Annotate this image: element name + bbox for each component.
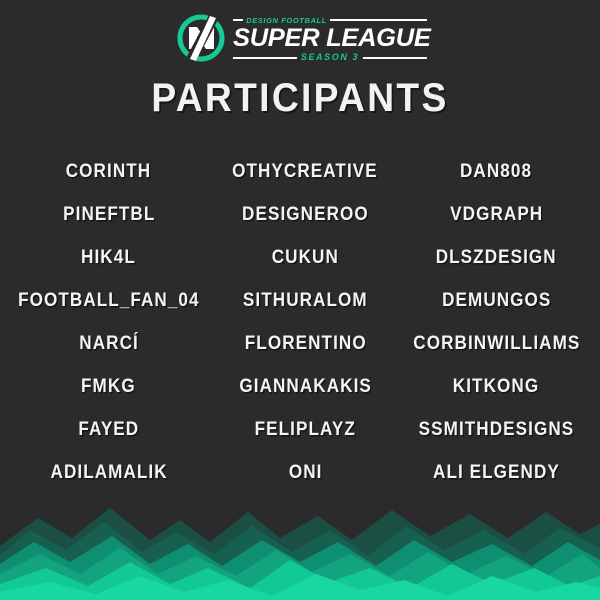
logo-season: SEASON 3 — [301, 53, 359, 62]
super-league-logo: DESIGN FOOTBALL SUPER LEAGUE SEASON 3 — [0, 10, 600, 68]
super-league-emblem-icon — [173, 11, 229, 67]
participant-name: ONI — [288, 451, 322, 494]
participant-name: ALI ELGENDY — [433, 451, 560, 494]
page-title: PARTICIPANTS — [21, 76, 579, 121]
mountain-range-graphic — [0, 490, 600, 600]
participants-grid: CORINTH PINEFTBL HIK4L FOOTBALL_FAN_04 N… — [8, 150, 592, 494]
participant-name: VDGRAPH — [450, 193, 543, 236]
participant-name: FMKG — [82, 365, 137, 408]
logo-rule-right — [330, 19, 428, 21]
participants-column-3: DAN808 VDGRAPH DLSZDESIGN DEMUNGOS CORBI… — [401, 150, 592, 494]
participants-poster: DESIGN FOOTBALL SUPER LEAGUE SEASON 3 PA… — [0, 0, 600, 600]
participant-name: OTHYCREATIVE — [232, 150, 378, 193]
participants-column-1: CORINTH PINEFTBL HIK4L FOOTBALL_FAN_04 N… — [8, 150, 210, 494]
participant-name: FAYED — [78, 408, 139, 451]
logo-wordmark: DESIGN FOOTBALL SUPER LEAGUE SEASON 3 — [233, 15, 427, 63]
logo-season-rule-left — [233, 57, 297, 59]
participant-name: ADILAMALIK — [50, 451, 167, 494]
participant-name: DEMUNGOS — [442, 279, 551, 322]
participant-name: KITKONG — [453, 365, 539, 408]
participant-name: FOOTBALL_FAN_04 — [18, 279, 200, 322]
participant-name: PINEFTBL — [63, 193, 155, 236]
participant-name: SSMITHDESIGNS — [419, 408, 575, 451]
participant-name: DAN808 — [460, 150, 532, 193]
logo-title: SUPER LEAGUE — [233, 25, 431, 51]
participant-name: DESIGNEROO — [242, 193, 369, 236]
logo-rule-left — [233, 19, 244, 21]
participants-column-2: OTHYCREATIVE DESIGNEROO CUKUN SITHURALOM… — [210, 150, 401, 494]
participant-name: DLSZDESIGN — [436, 236, 557, 279]
participant-name: CORINTH — [66, 150, 151, 193]
participant-name: FELIPLAYZ — [255, 408, 356, 451]
participant-name: SITHURALOM — [243, 279, 368, 322]
participant-name: CUKUN — [272, 236, 339, 279]
logo-season-rule-right — [363, 57, 427, 59]
logo-season-row: SEASON 3 — [233, 52, 427, 63]
participant-name: CORBINWILLIAMS — [413, 322, 580, 365]
participant-name: GIANNAKAKIS — [239, 365, 372, 408]
participant-name: HIK4L — [81, 236, 136, 279]
participant-name: NARCÍ — [79, 322, 139, 365]
participant-name: FLORENTINO — [244, 322, 366, 365]
